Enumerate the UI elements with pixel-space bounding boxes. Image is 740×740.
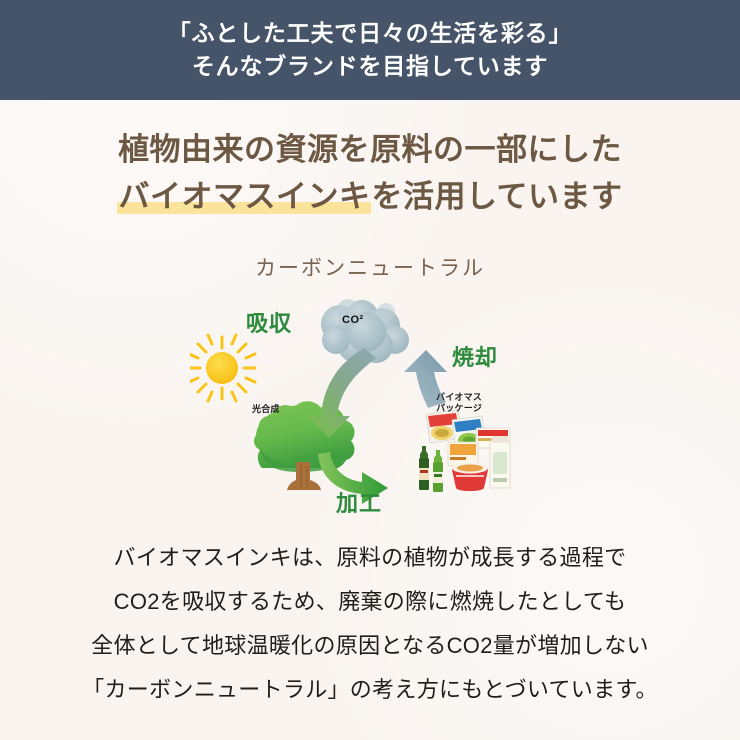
sun-icon	[190, 335, 255, 401]
package-label-line-2: パッケージ	[436, 403, 482, 414]
infographic-page: 「ふとした工夫で日々の生活を彩る」 そんなブランドを目指しています 植物由来の資…	[0, 0, 740, 740]
banner-line-2: そんなブランドを目指しています	[192, 50, 548, 83]
heading-line-1: 植物由来の資源を原料の一部にした	[0, 126, 740, 173]
heading-line-2: バイオマスインキを活用しています	[0, 173, 740, 220]
body-line-3: 全体として地球温暖化の原因となるCO2量が増加しない	[0, 624, 740, 668]
diagram-label-process: 加工	[336, 486, 382, 518]
body-line-2: CO2を吸収するため、廃棄の際に燃焼したとしても	[0, 580, 740, 624]
diagram-label-incinerate: 焼却	[452, 340, 498, 372]
diagram-label-co2: CO²	[342, 314, 364, 326]
body-paragraph: バイオマスインキは、原料の植物が成長する過程で CO2を吸収するため、廃棄の際に…	[0, 536, 740, 712]
package-label-line-1: バイオマス	[436, 392, 482, 403]
main-heading: 植物由来の資源を原料の一部にした バイオマスインキを活用しています	[0, 126, 740, 220]
heading-highlight: バイオマスインキ	[117, 179, 371, 214]
diagram-label-photosynthesis: 光合成	[252, 404, 280, 415]
body-line-1: バイオマスインキは、原料の植物が成長する過程で	[0, 536, 740, 580]
carbon-neutral-cycle-diagram: 吸収 焼却 加工 光合成 バイオマス パッケージ CO²	[190, 296, 550, 524]
heading-line-2-rest: を活用しています	[371, 179, 622, 214]
diagram-label-biomass-package: バイオマス パッケージ	[436, 392, 482, 414]
package-group-icon	[419, 410, 510, 492]
body-line-4: 「カーボンニュートラル」の考え方にもとづいています。	[0, 668, 740, 712]
banner-line-1: 「ふとした工夫で日々の生活を彩る」	[168, 17, 573, 50]
diagram-label-absorb: 吸収	[246, 306, 292, 338]
diagram-title: カーボンニュートラル	[0, 252, 740, 282]
header-banner: 「ふとした工夫で日々の生活を彩る」 そんなブランドを目指しています	[0, 0, 740, 100]
